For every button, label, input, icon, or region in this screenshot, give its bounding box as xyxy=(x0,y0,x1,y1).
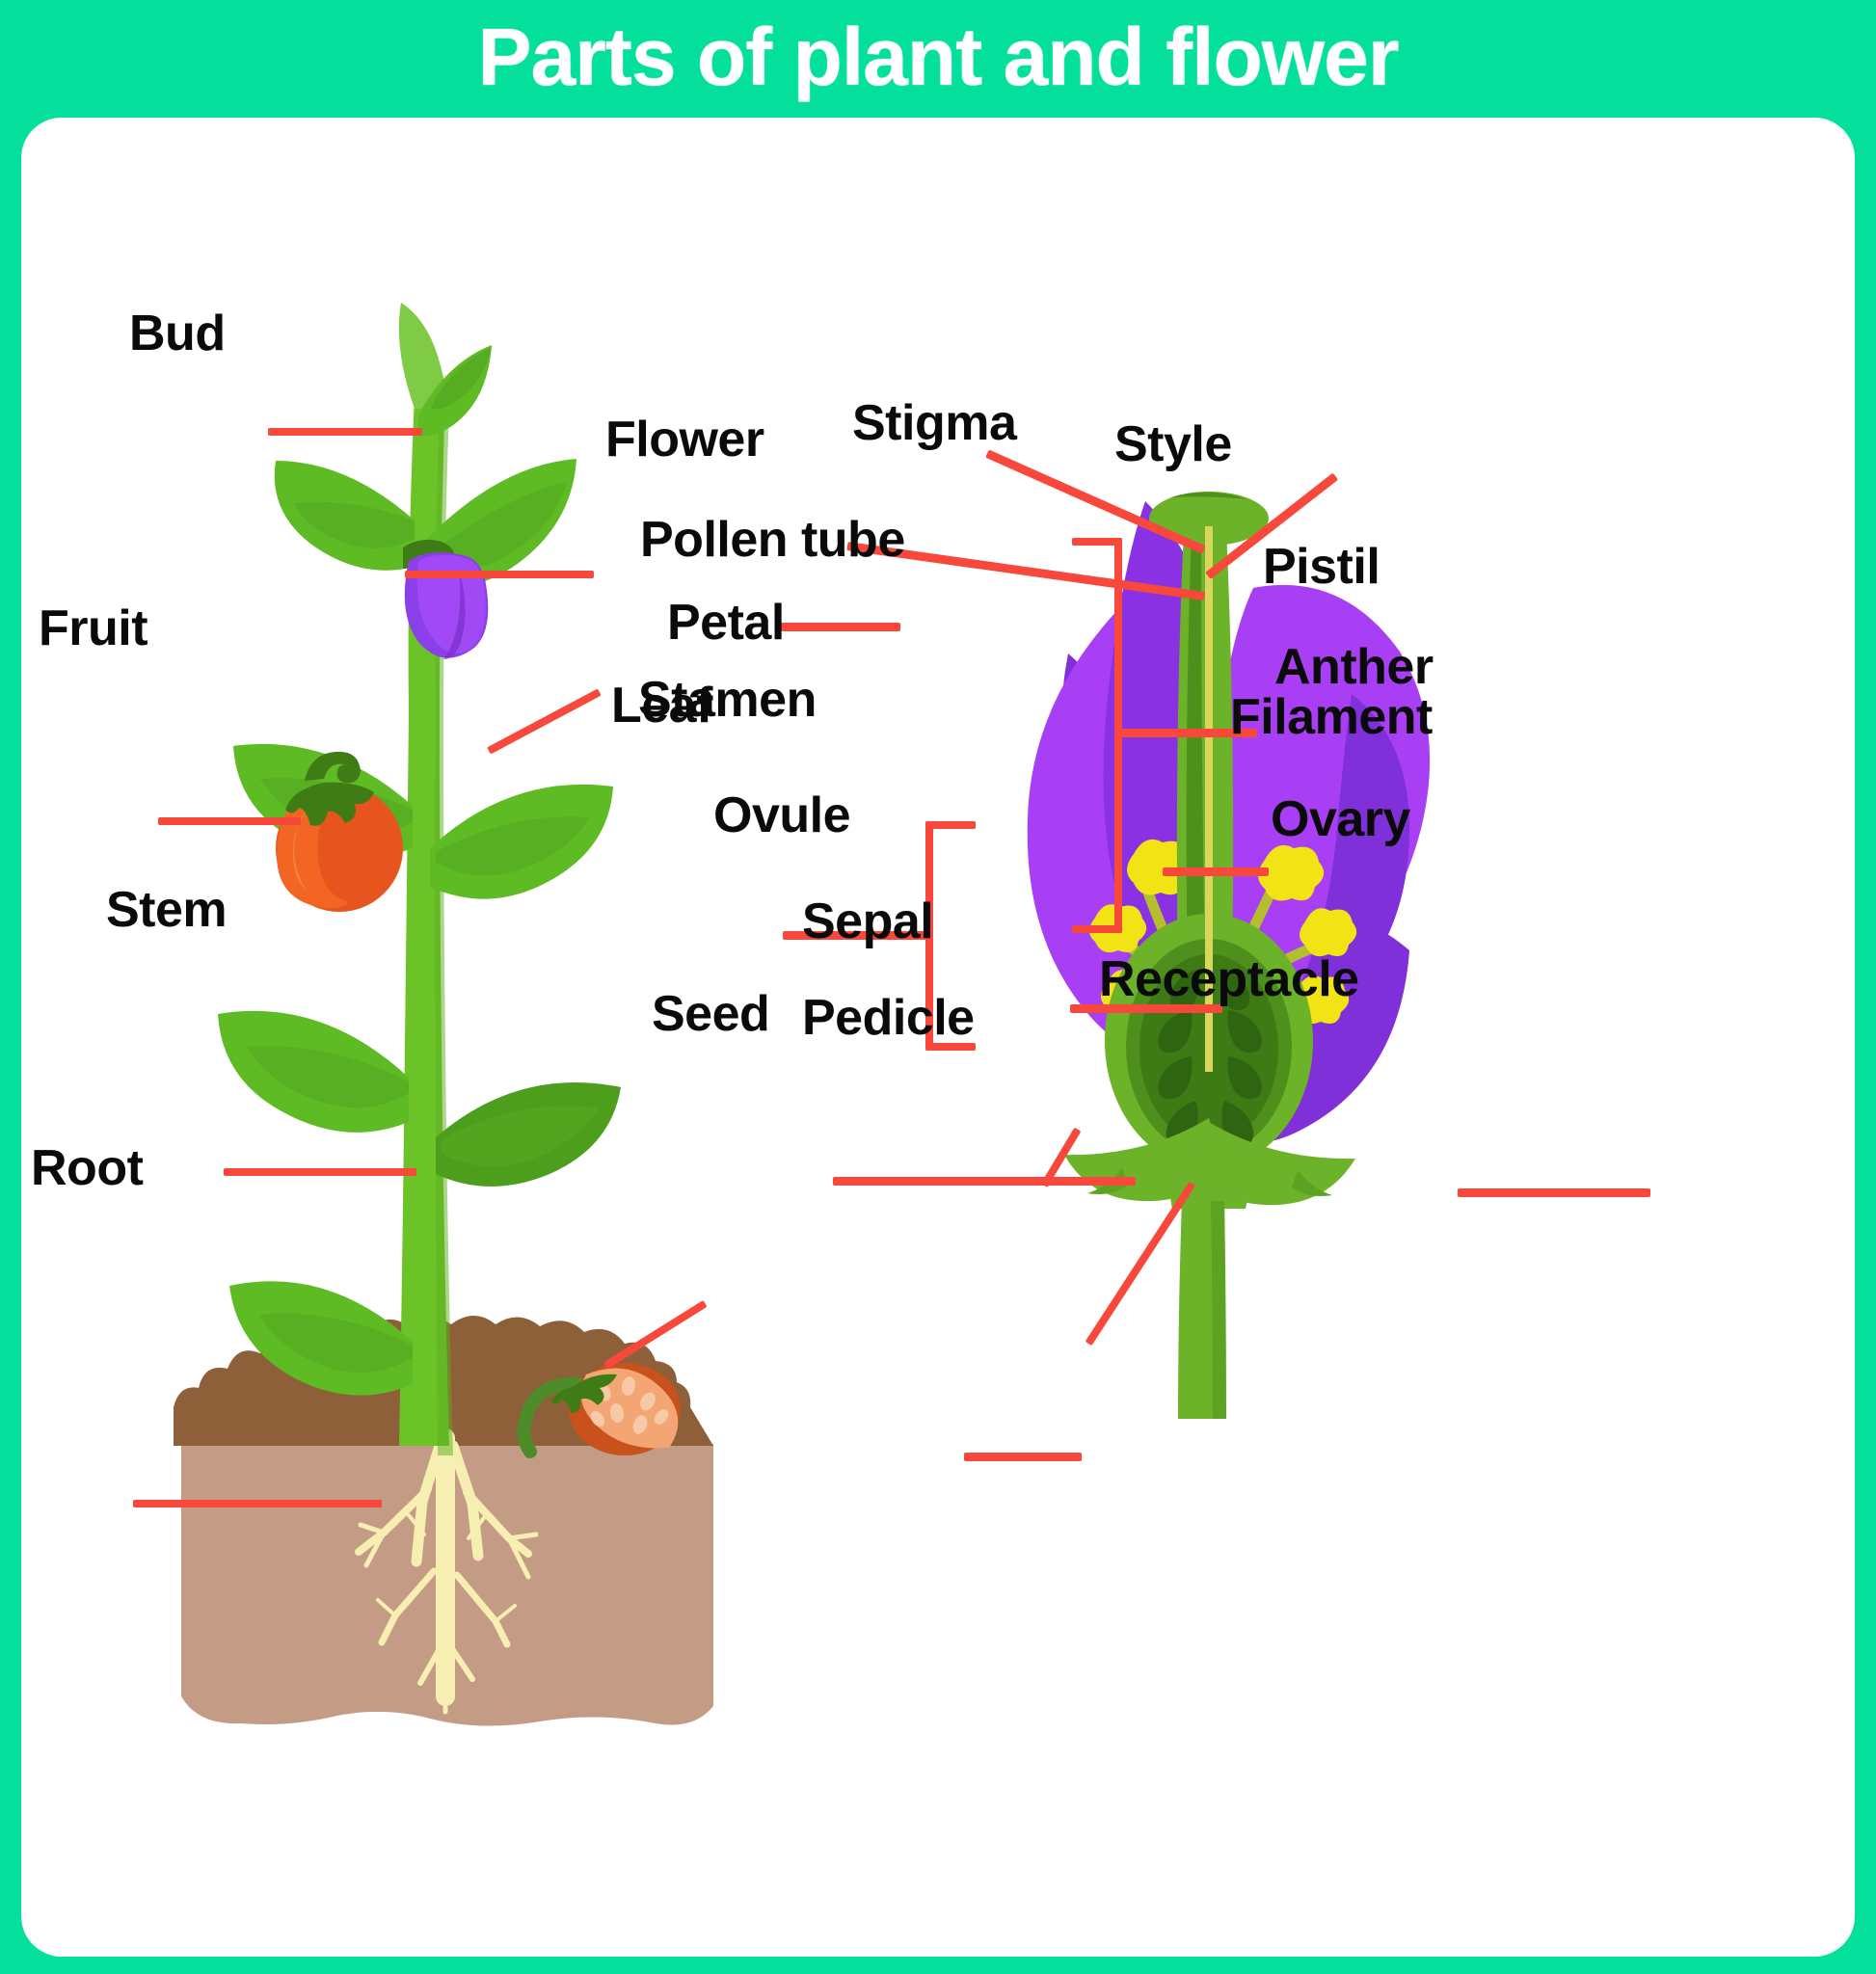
label-stigma: Stigma xyxy=(852,398,1016,448)
bud xyxy=(399,303,492,436)
leader-fruit xyxy=(158,817,301,825)
label-style: Style xyxy=(1114,419,1232,469)
label-bud: Bud xyxy=(129,308,226,359)
label-pollen-tube: Pollen tube xyxy=(640,515,905,565)
leaf-lower-right xyxy=(436,1082,621,1187)
label-stem: Stem xyxy=(106,885,227,935)
leader-ovary xyxy=(1458,1188,1650,1197)
label-pedicle: Pedicle xyxy=(802,993,975,1043)
label-petal: Petal xyxy=(667,598,785,648)
label-stamen: Stamen xyxy=(638,675,817,725)
poster-root: Parts of plant and flower xyxy=(0,0,1876,1974)
label-receptacle: Receptacle xyxy=(1099,954,1359,1004)
flower-illustration xyxy=(916,405,1591,1427)
label-ovary: Ovary xyxy=(1271,794,1410,844)
leaf-mid-right xyxy=(430,785,613,899)
leader-bud xyxy=(268,428,422,436)
leader-pedicle xyxy=(964,1453,1082,1461)
leaf-upper-left xyxy=(275,461,415,571)
label-anther: Anther xyxy=(1274,642,1434,692)
label-sepal: Sepal xyxy=(802,896,933,947)
pedicle-shade xyxy=(1211,1201,1226,1419)
label-root: Root xyxy=(31,1143,143,1193)
leader-stem xyxy=(224,1168,416,1176)
label-ovule: Ovule xyxy=(713,790,850,840)
leader-flower xyxy=(405,571,594,578)
leader-anther xyxy=(1163,867,1269,876)
label-seed: Seed xyxy=(652,989,769,1039)
label-pistil: Pistil xyxy=(1263,542,1380,592)
leader-ovule xyxy=(833,1177,1136,1186)
leader-petal xyxy=(781,623,900,631)
label-flower: Flower xyxy=(605,414,764,465)
label-fruit: Fruit xyxy=(39,603,147,654)
leaf-lower-left xyxy=(218,1011,409,1133)
leader-root xyxy=(133,1500,382,1507)
label-filament: Filament xyxy=(1230,692,1433,742)
